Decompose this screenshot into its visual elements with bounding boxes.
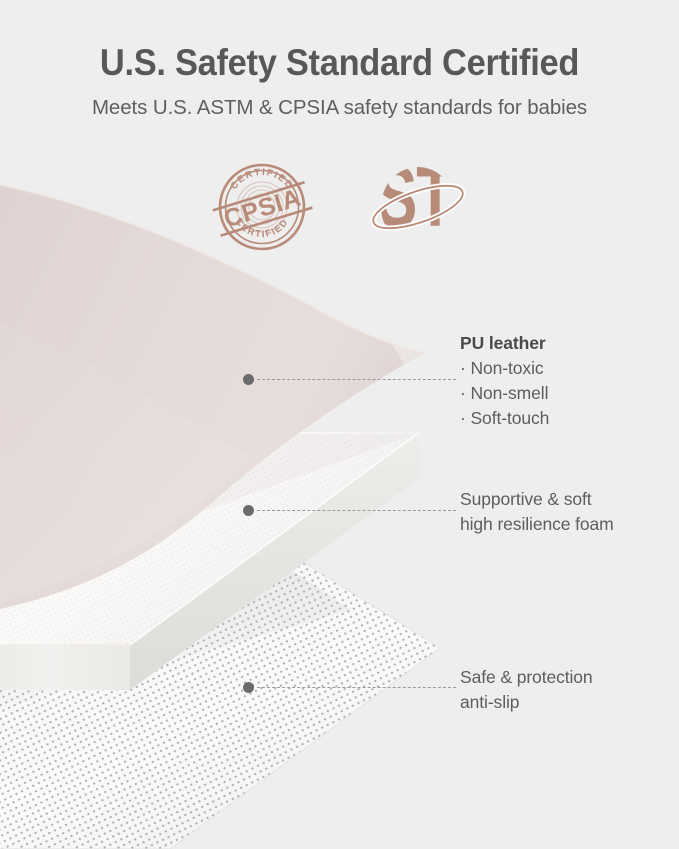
layered-product-illustration	[0, 0, 679, 849]
leader-dot	[243, 682, 254, 693]
annotation-foam: Supportive & soft high resilience foam	[460, 487, 614, 537]
annotation-text: Safe & protection	[460, 665, 593, 690]
header: U.S. Safety Standard Certified Meets U.S…	[0, 0, 679, 120]
annotation-text: Supportive & soft	[460, 487, 614, 512]
cpsia-badge-icon: CERTIFIED CERTIFIED CPSIA	[210, 155, 314, 259]
page-title: U.S. Safety Standard Certified	[24, 0, 655, 83]
leader-dash	[257, 687, 456, 688]
astm-badge-icon: ASTM	[366, 155, 470, 259]
annotation-text: high resilience foam	[460, 512, 614, 537]
leader-line-foam	[243, 504, 456, 516]
leader-line-pu-leather	[243, 373, 456, 385]
leader-line-anti-slip	[243, 681, 456, 693]
leader-dash	[257, 379, 456, 380]
certification-badges: CERTIFIED CERTIFIED CPSIA ASTM	[0, 152, 679, 262]
annotation-bullet: · Soft-touch	[460, 406, 549, 431]
annotation-bullet: · Non-toxic	[460, 356, 549, 381]
product-infographic: U.S. Safety Standard Certified Meets U.S…	[0, 0, 679, 849]
cpsia-main-text: CPSIA	[220, 184, 304, 234]
leader-dot	[243, 505, 254, 516]
page-subtitle: Meets U.S. ASTM & CPSIA safety standards…	[0, 83, 679, 120]
leader-dot	[243, 374, 254, 385]
astm-main-text: ASTM	[366, 155, 470, 244]
annotation-anti-slip: Safe & protection anti-slip	[460, 665, 593, 715]
leader-dash	[257, 510, 456, 511]
annotation-bullet: · Non-smell	[460, 381, 549, 406]
annotation-pu-leather: PU leather · Non-toxic · Non-smell · Sof…	[460, 331, 549, 430]
annotation-text: anti-slip	[460, 690, 593, 715]
annotation-heading: PU leather	[460, 331, 549, 356]
